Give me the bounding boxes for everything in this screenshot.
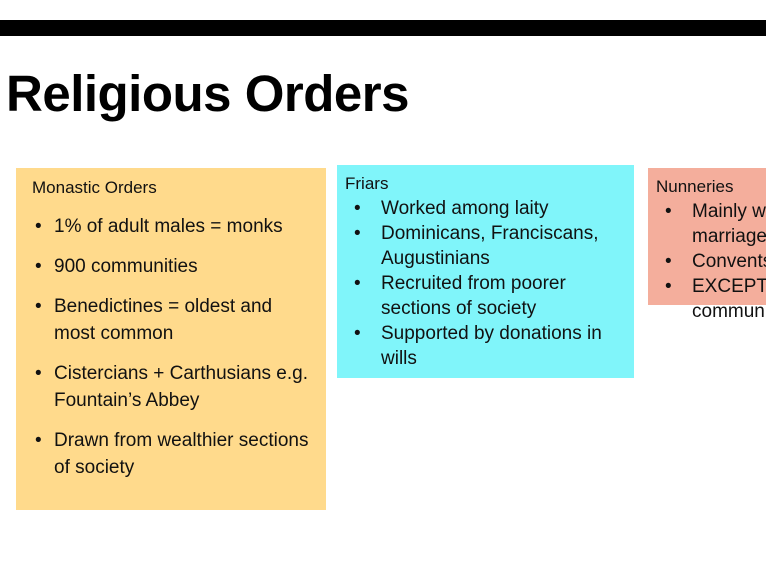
bullet-icon: • — [665, 199, 672, 224]
list-item-label: Dominicans, Franciscans, Augustinians — [381, 221, 626, 271]
list-item: •Convents — [656, 249, 766, 274]
bullet-icon: • — [665, 249, 672, 274]
page-title: Religious Orders — [6, 66, 409, 122]
bullet-icon: • — [354, 271, 361, 296]
bullet-icon: • — [354, 321, 361, 346]
list-item: •Cistercians + Carthusians e.g. Fountain… — [24, 360, 316, 414]
list-item: •Dominicans, Franciscans, Augustinians — [345, 221, 626, 271]
list-item-label: Convents — [692, 249, 766, 274]
list-item: •Mainly women unsuitable for marriage — [656, 199, 766, 249]
bullet-icon: • — [354, 221, 361, 246]
bullet-list-friars: •Worked among laity•Dominicans, Francisc… — [345, 196, 626, 371]
list-item-label: Benedictines = oldest and most common — [54, 293, 316, 347]
title-accent-bar — [0, 20, 766, 36]
list-item: •Recruited from poorer sections of socie… — [345, 271, 626, 321]
card-heading-monastic: Monastic Orders — [24, 178, 316, 198]
list-item: •Benedictines = oldest and most common — [24, 293, 316, 347]
bullet-list-monastic: •1% of adult males = monks•900 communiti… — [24, 213, 316, 481]
list-item: •Supported by donations in wills — [345, 321, 626, 371]
list-item: •Drawn from wealthier sections of societ… — [24, 427, 316, 481]
card-friars: Friars •Worked among laity•Dominicans, F… — [337, 165, 634, 378]
list-item-label: Supported by donations in wills — [381, 321, 626, 371]
bullet-icon: • — [35, 253, 42, 280]
bullet-list-nunneries: •Mainly women unsuitable for marriage•Co… — [656, 199, 766, 324]
list-item-label: Worked among laity — [381, 196, 626, 221]
list-item-label: Mainly women unsuitable for marriage — [692, 199, 766, 249]
list-item-label: Cistercians + Carthusians e.g. Fountain’… — [54, 360, 316, 414]
card-heading-friars: Friars — [345, 173, 626, 195]
list-item: •900 communities — [24, 253, 316, 280]
bullet-icon: • — [665, 274, 672, 299]
list-item-label: 1% of adult males = monks — [54, 213, 316, 240]
list-item-label: 900 communities — [54, 253, 316, 280]
list-item-label: EXCEPT Birgittine community — [692, 274, 766, 324]
list-item: •EXCEPT Birgittine community — [656, 274, 766, 324]
card-heading-nunneries: Nunneries — [656, 176, 766, 198]
bullet-icon: • — [35, 293, 42, 320]
card-monastic-orders: Monastic Orders •1% of adult males = mon… — [16, 168, 326, 510]
list-item: •Worked among laity — [345, 196, 626, 221]
bullet-icon: • — [35, 360, 42, 387]
bullet-icon: • — [35, 427, 42, 454]
bullet-icon: • — [35, 213, 42, 240]
list-item-label: Recruited from poorer sections of societ… — [381, 271, 626, 321]
bullet-icon: • — [354, 196, 361, 221]
list-item-label: Drawn from wealthier sections of society — [54, 427, 316, 481]
card-nunneries: Nunneries •Mainly women unsuitable for m… — [648, 168, 766, 305]
list-item: •1% of adult males = monks — [24, 213, 316, 240]
slide-canvas: Religious Orders Monastic Orders •1% of … — [0, 0, 766, 574]
